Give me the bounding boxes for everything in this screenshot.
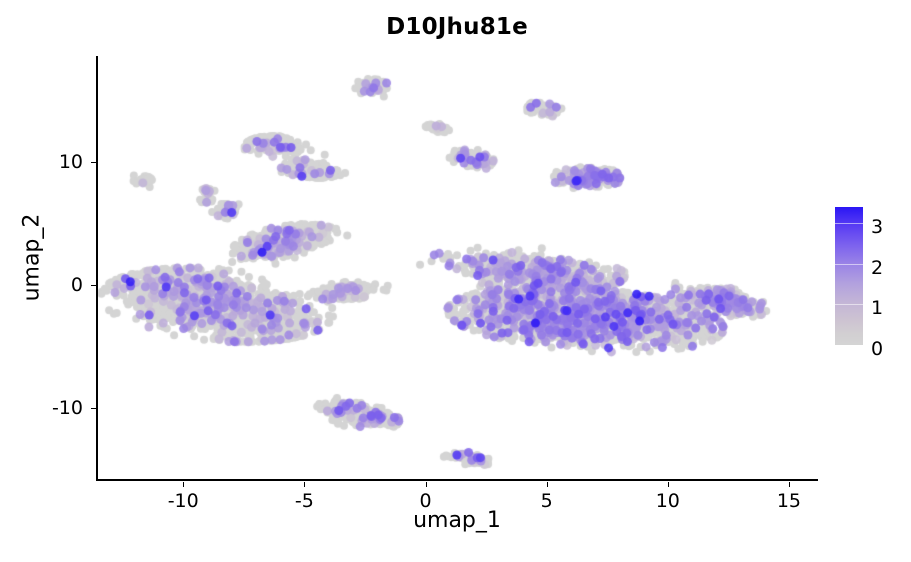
y-axis-spine <box>96 56 98 481</box>
colorbar-tick-label: 1 <box>871 297 883 319</box>
plot-axes: -10-5051015 100-10 <box>96 56 818 481</box>
colorbar-gradient <box>835 207 863 345</box>
x-tick-mark <box>789 482 790 487</box>
colorbar-tick-label: 0 <box>871 338 883 360</box>
scatter-plot-canvas[interactable] <box>96 56 818 481</box>
colorbar-tick-mark <box>835 264 863 265</box>
colorbar-legend[interactable]: 0123 <box>835 207 907 347</box>
y-tick-label: 10 <box>59 151 83 173</box>
colorbar-tick-mark <box>835 223 863 224</box>
y-tick-label: 0 <box>71 274 83 296</box>
umap-figure: D10Jhu81e -10-5051015 100-10 umap_1 umap… <box>0 0 911 562</box>
x-axis-spine <box>96 479 818 481</box>
colorbar-tick-label: 3 <box>871 216 883 238</box>
y-tick-mark <box>91 408 96 409</box>
x-tick-mark <box>304 482 305 487</box>
page-title: D10Jhu81e <box>96 14 818 40</box>
y-tick-label: -10 <box>52 397 83 419</box>
colorbar-tick-mark <box>835 304 863 305</box>
x-tick-mark <box>183 482 184 487</box>
x-tick-mark <box>547 482 548 487</box>
colorbar-tick-label: 2 <box>871 257 883 279</box>
x-tick-mark <box>668 482 669 487</box>
y-tick-mark <box>91 285 96 286</box>
y-axis-label: umap_2 <box>20 158 45 358</box>
x-tick-mark <box>426 482 427 487</box>
x-axis-label: umap_1 <box>96 508 818 533</box>
y-tick-mark <box>91 162 96 163</box>
